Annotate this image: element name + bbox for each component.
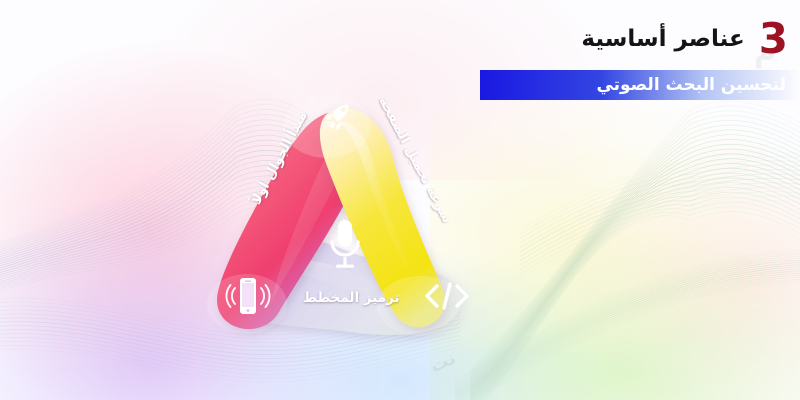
background-wash-peach [560, 140, 800, 400]
subtitle-banner: لتحسين البحث الصوتي [480, 70, 800, 100]
headline-row: 3 عناصر أساسية [581, 18, 788, 60]
headline-number: 3 [759, 18, 788, 60]
headline-text: عناصر أساسية [581, 25, 744, 53]
voice-search-triangle-diagram [175, 78, 515, 348]
watermark-bottom: نت [427, 348, 459, 378]
subtitle-text: لتحسين البحث الصوتي [596, 70, 800, 100]
infographic-canvas: مبدأ الجوال أولاً سرعة تحميل الصفحة ترمي… [0, 0, 800, 400]
watermark-top: م [754, 34, 776, 69]
